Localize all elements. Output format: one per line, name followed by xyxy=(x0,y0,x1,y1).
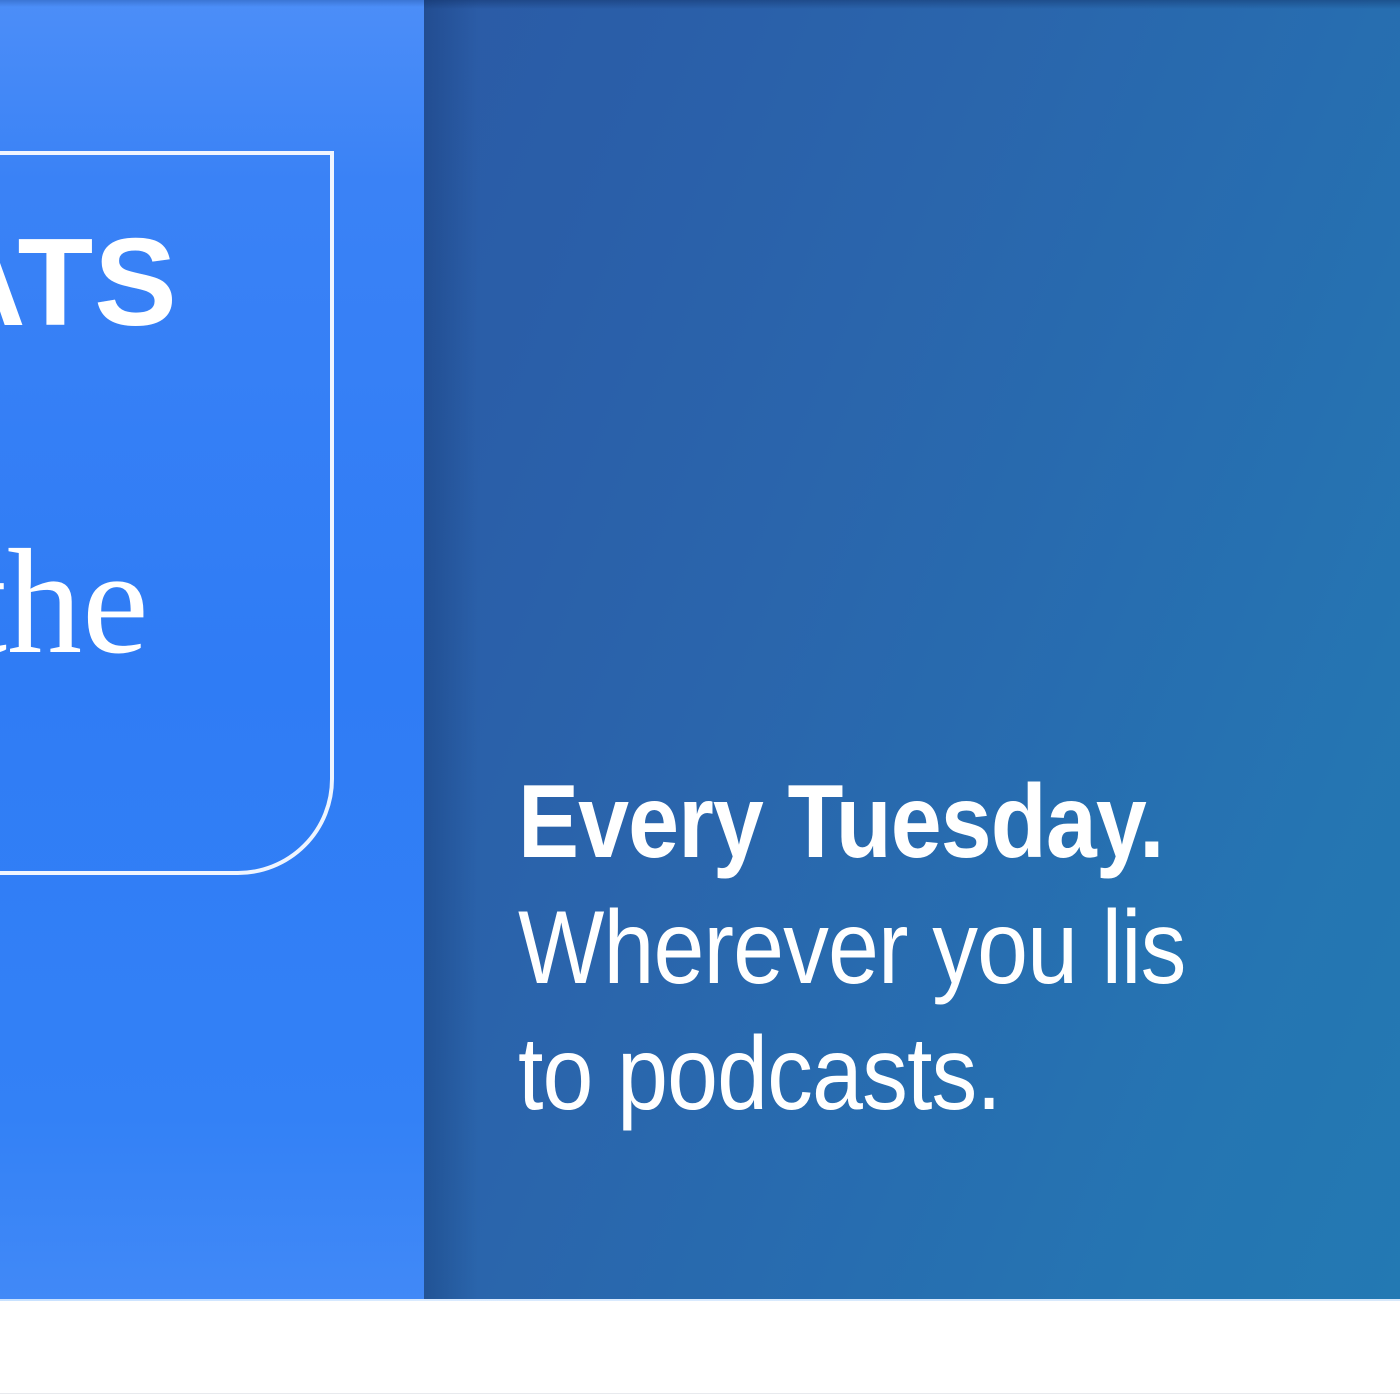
logo-outline-card: ATS the xyxy=(0,151,334,875)
right-panel-edge-shade xyxy=(424,0,478,1299)
promo-line-schedule: Every Tuesday. xyxy=(518,770,1400,874)
page-footer-area xyxy=(0,1301,1400,1400)
artwork-banner: ATS the Every Tuesday. Wherever you lis … xyxy=(0,0,1400,1299)
left-brand-panel: ATS the xyxy=(0,0,424,1299)
brand-subword: the xyxy=(0,527,330,677)
right-promo-panel: Every Tuesday. Wherever you lis to podca… xyxy=(424,0,1400,1299)
brand-wordmark: ATS xyxy=(0,221,330,345)
right-panel-top-shade xyxy=(424,0,1400,9)
promo-line-availability-1: Wherever you lis xyxy=(518,896,1400,1000)
left-panel-top-shade xyxy=(0,0,424,7)
promo-copy-block: Every Tuesday. Wherever you lis to podca… xyxy=(518,770,1400,1126)
promo-line-availability-2: to podcasts. xyxy=(518,1022,1400,1126)
footer-divider xyxy=(0,1393,1400,1394)
podcast-cover-artwork: ATS the Every Tuesday. Wherever you lis … xyxy=(0,0,1400,1400)
